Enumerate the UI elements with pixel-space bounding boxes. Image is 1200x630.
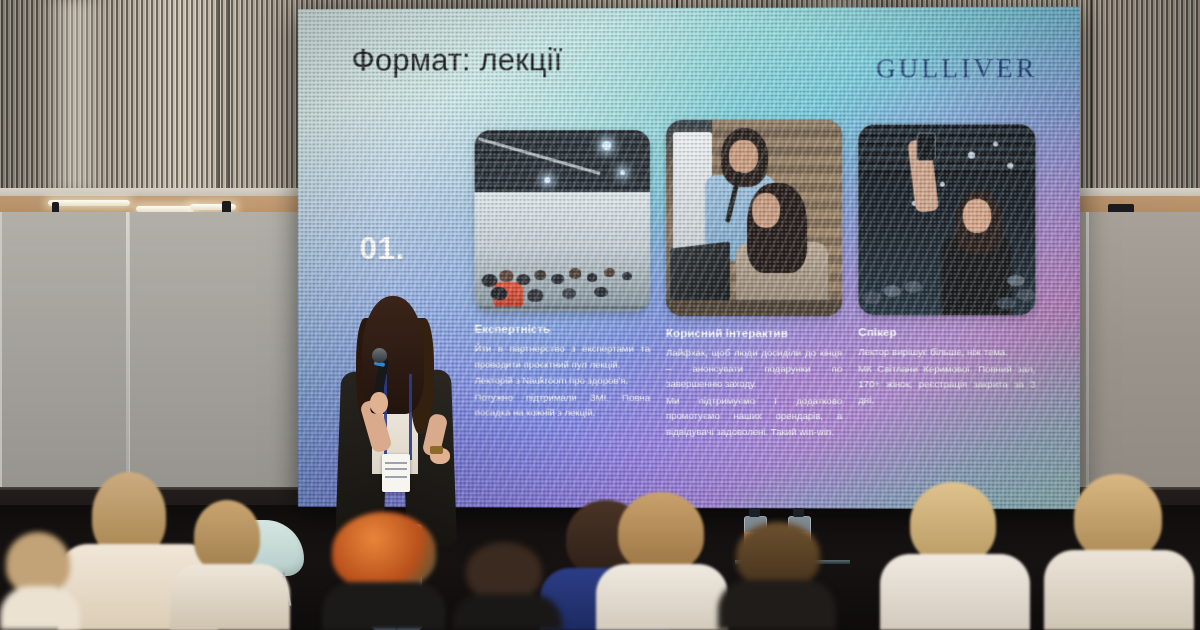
audience-member xyxy=(0,534,80,630)
card-paragraph: Потужно підтримали ЗМІ. Повна посадка на… xyxy=(475,390,650,421)
gulliver-logo: GULLIVER xyxy=(876,53,1038,84)
card-body: Йти в партнерство з експертами та провод… xyxy=(475,342,650,422)
left-hand xyxy=(370,392,388,414)
card-paragraph: Лекторій з Naukroom про здоров'я. xyxy=(475,374,650,390)
audience-member xyxy=(170,510,290,630)
card-heading: Корисний інтерактив xyxy=(666,328,842,340)
strip-light xyxy=(48,200,130,206)
slide-card: Корисний інтерактив Лайфхак, щоб люди до… xyxy=(666,130,842,442)
conference-badge xyxy=(382,454,410,492)
screenshot-root: Формат: лекції GULLIVER 01. xyxy=(0,0,1200,630)
ceiling-seam xyxy=(1090,0,1092,192)
audience-member xyxy=(452,544,562,630)
card-paragraph: Йти в партнерство з експертами та провод… xyxy=(475,342,650,373)
ceiling-light-glow xyxy=(40,0,110,192)
microphone-head xyxy=(372,348,387,363)
slide-card: Спікер Лектор вирішує більше, ніж тема. … xyxy=(858,129,1035,442)
card-paragraph: Лектор вирішує більше, ніж тема. xyxy=(858,345,1035,361)
presentation-clicker xyxy=(430,446,443,454)
card-paragraph: Ми підтримуємо І додатково промотуємо на… xyxy=(666,394,842,441)
ceiling-seam xyxy=(228,0,230,192)
card-heading: Експертність xyxy=(475,324,650,336)
slide-card-caption: Експертність Йти в партнерство з експерт… xyxy=(475,324,650,422)
selfie-with-crowd-photo xyxy=(858,124,1035,315)
ceiling-seam xyxy=(218,0,220,192)
audience-member xyxy=(318,518,448,630)
card-paragraph: Лайфхак, щоб люди досиділи до кінця – ан… xyxy=(666,346,842,393)
card-paragraph: МК Світлани Керимової. Повний зал, 170+ … xyxy=(858,362,1035,409)
slide-card: Експертність Йти в партнерство з експерт… xyxy=(475,130,650,441)
audience-member xyxy=(596,504,728,630)
card-body: Лектор вирішує більше, ніж тема. МК Світ… xyxy=(858,345,1035,409)
speaker-and-laptop-operator-photo xyxy=(666,120,842,316)
audience-member xyxy=(1044,480,1194,630)
slide-title: Формат: лекції xyxy=(352,42,563,78)
slide-card-caption: Корисний інтерактив Лайфхак, щоб люди до… xyxy=(666,328,842,441)
audience-member xyxy=(880,490,1030,630)
card-heading: Спікер xyxy=(858,327,1035,339)
slide-card-row: Експертність Йти в партнерство з експерт… xyxy=(475,129,1036,442)
audience-member xyxy=(718,530,836,630)
slide-card-caption: Спікер Лектор вирішує більше, ніж тема. … xyxy=(858,327,1035,409)
lecture-hall-audience-photo xyxy=(475,130,650,312)
card-body: Лайфхак, щоб люди досиділи до кінця – ан… xyxy=(666,346,842,441)
slide-section-number: 01. xyxy=(359,230,405,267)
